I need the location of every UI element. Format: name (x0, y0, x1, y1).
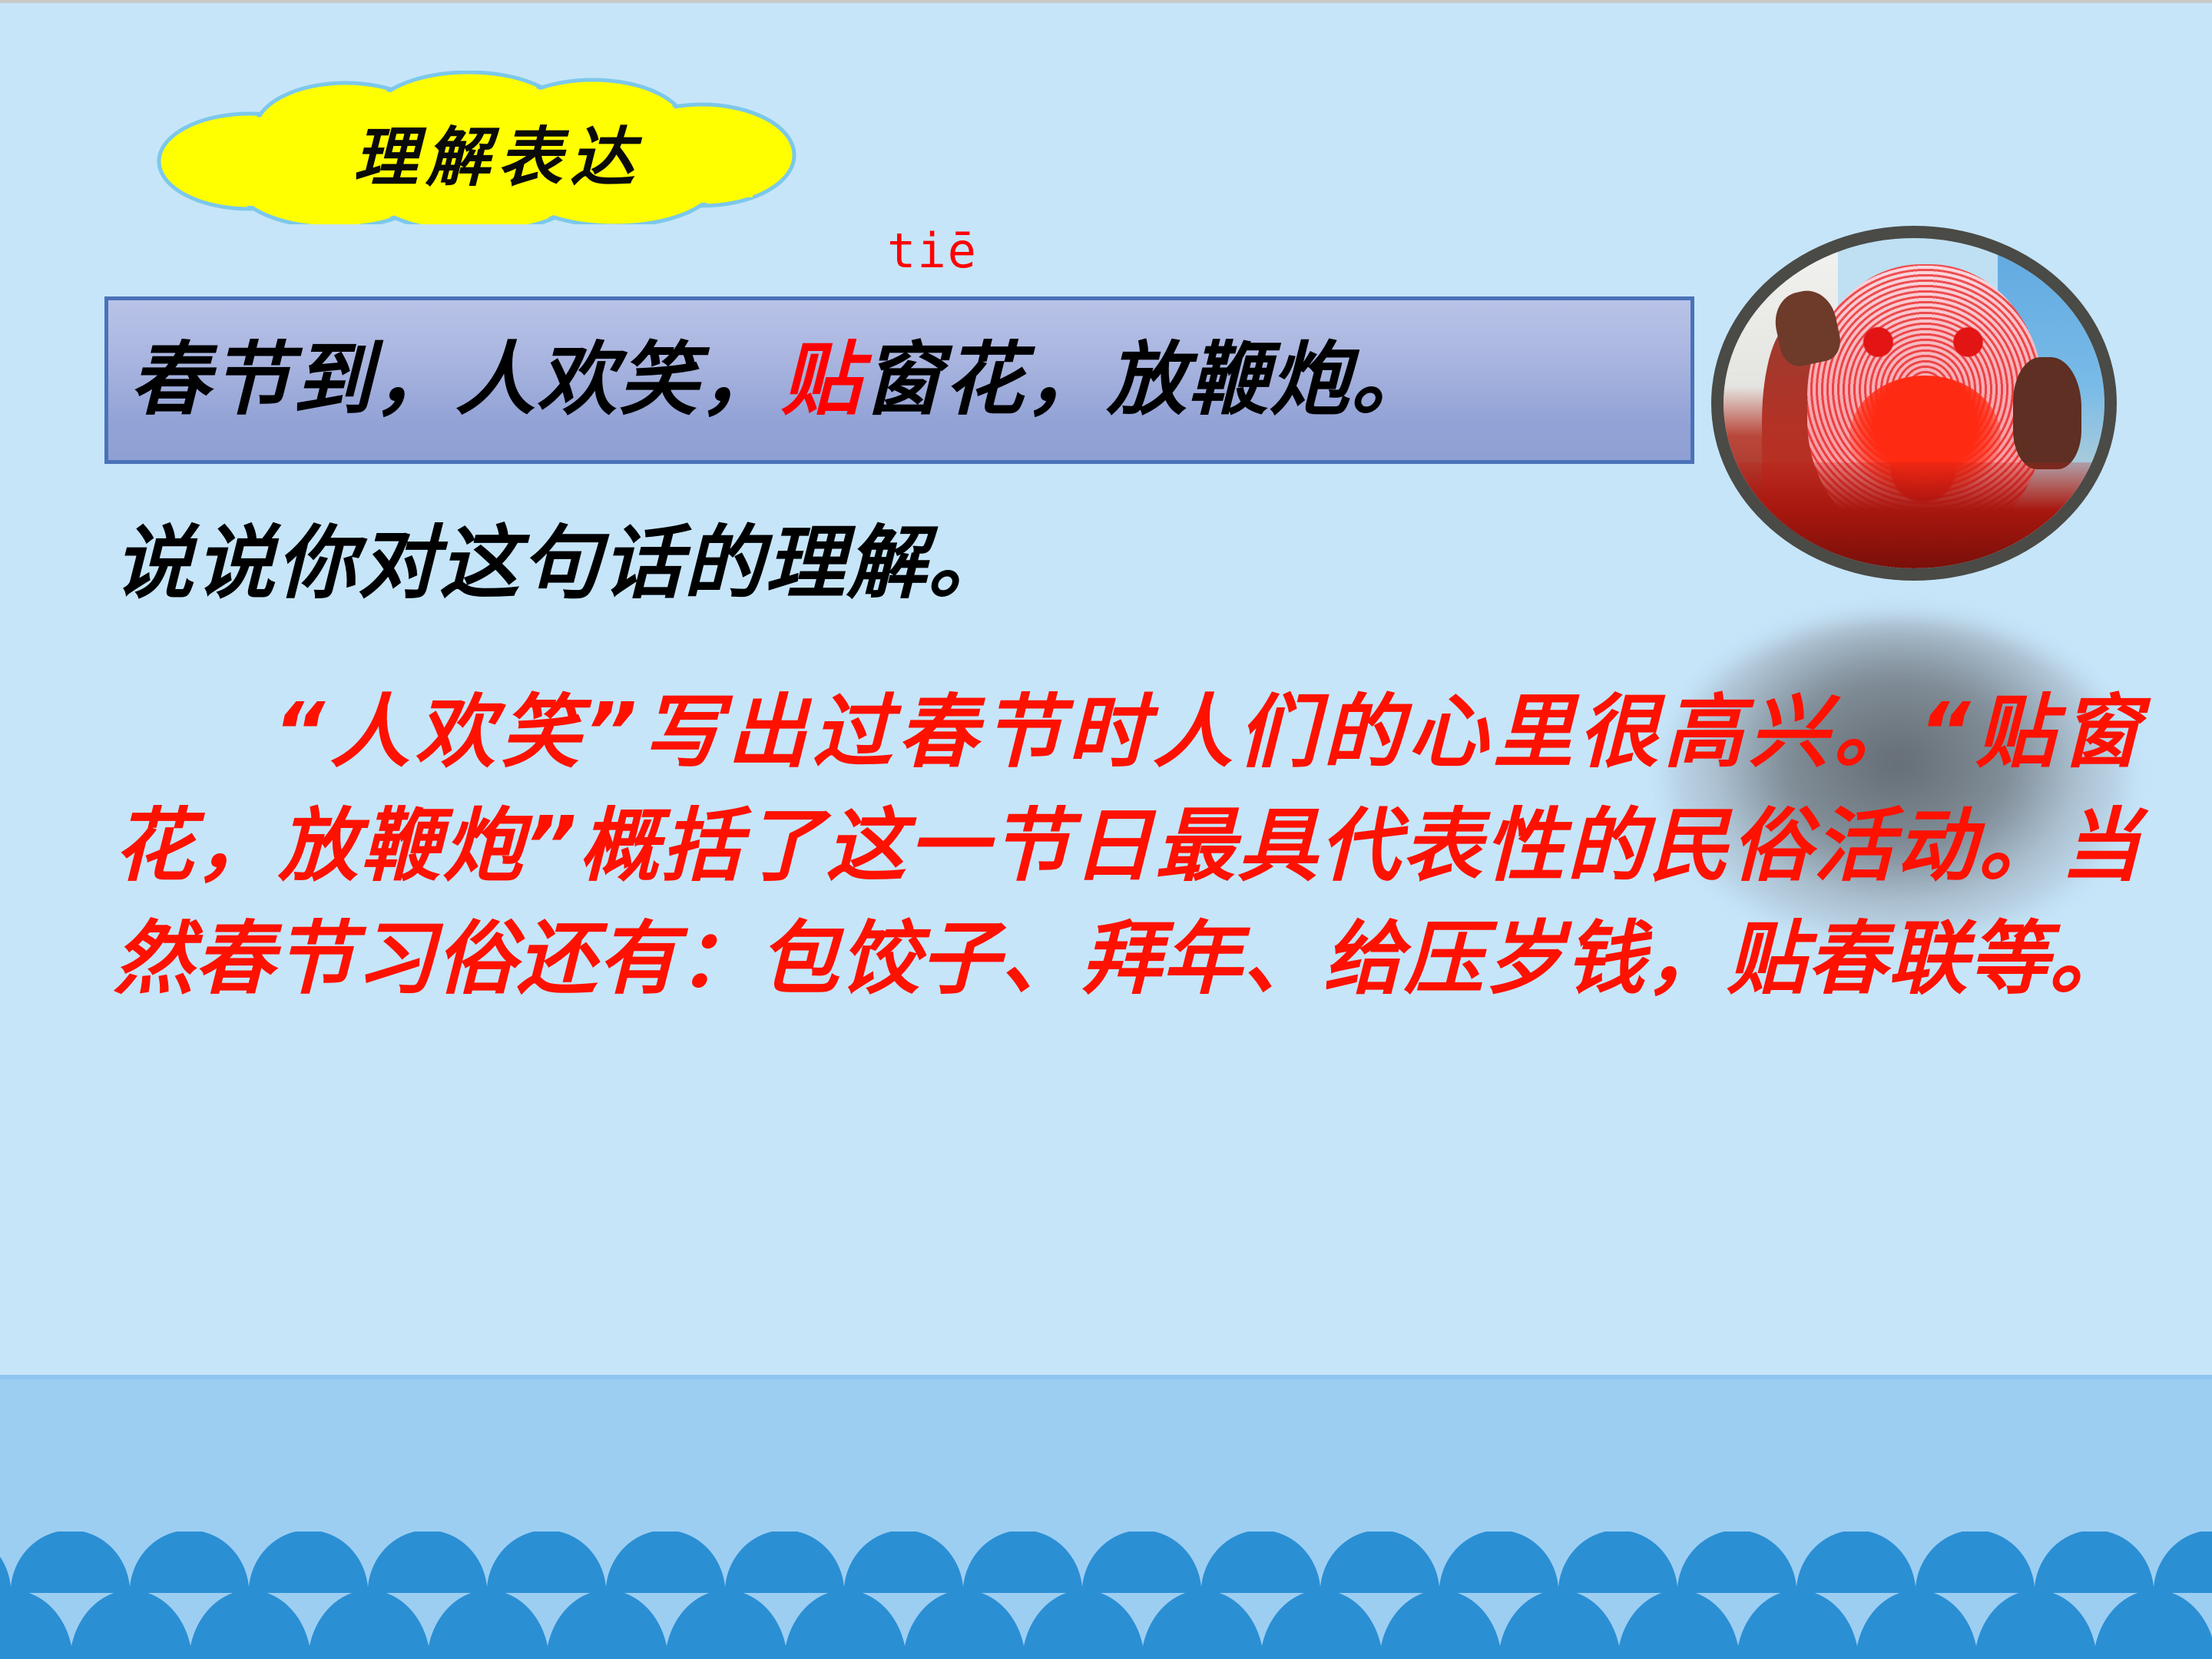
title-cloud-shape: 理解表达 (154, 71, 814, 224)
photo-content (1724, 238, 2104, 568)
bottom-decorative-band (0, 1375, 2212, 1659)
arch-row-lower (0, 1590, 2212, 1659)
question-prompt: 说说你对这句话的理解。 (114, 519, 1009, 607)
pinyin-annotation: tiē (887, 227, 978, 275)
slide-canvas: 理解表达 tiē 春节到，人欢笑，贴窗花，放鞭炮。 说说你对这句话的理解。 “人… (0, 0, 2212, 1659)
sentence-part-after: 窗花，放鞭炮。 (863, 333, 1432, 426)
photo-foreground (1724, 462, 2104, 568)
page-title: 理解表达 (167, 75, 828, 229)
sentence-text: 春节到，人欢笑，贴窗花，放鞭炮。 (130, 338, 1432, 422)
papercut-photo (1711, 226, 2117, 581)
arch-row-upper (0, 1532, 2212, 1593)
sentence-part-before: 春节到，人欢笑， (130, 333, 781, 426)
sentence-box: 春节到，人欢笑，贴窗花，放鞭炮。 (104, 296, 1694, 464)
sentence-highlight-char: 贴 (781, 333, 863, 426)
photo-hand-right (2013, 357, 2081, 469)
band-hairline (0, 1375, 2212, 1379)
explanation-paragraph: “人欢笑”写出过春节时人们的心里很高兴。“贴窗花，放鞭炮”概括了这一节日最具代表… (114, 676, 2141, 1016)
